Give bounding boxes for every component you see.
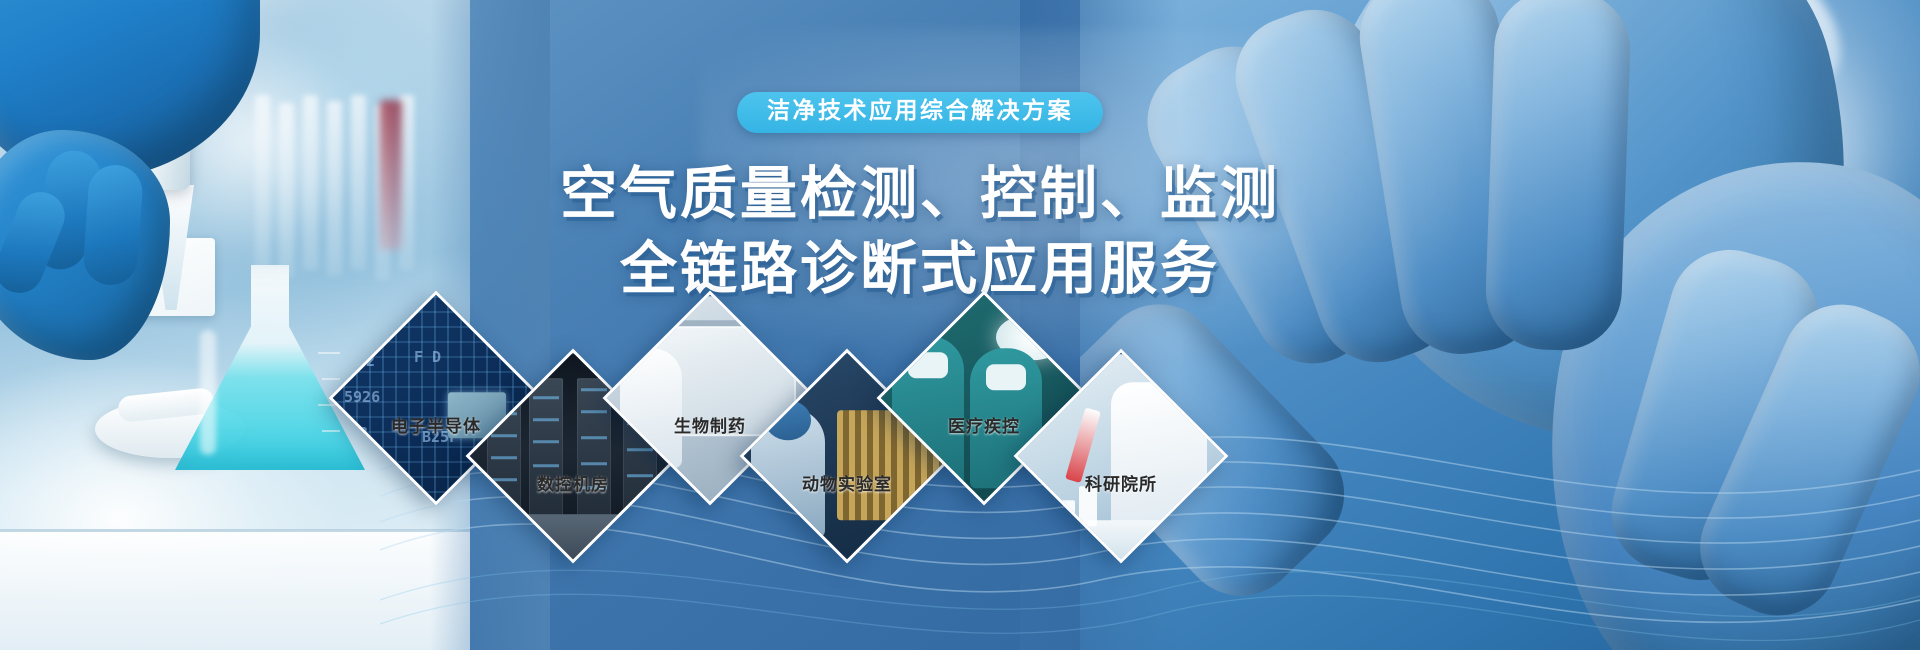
headline-line-2: 全链路诊断式应用服务 [470,232,1370,307]
bench-edge-line [0,529,470,532]
flask-graduation-marks [300,352,340,457]
banner-copy: 洁净技术应用综合解决方案 空气质量检测、控制、监测 全链路诊断式应用服务 [470,92,1370,307]
solution-badge: 洁净技术应用综合解决方案 [737,92,1103,133]
lab-bench-surface [0,530,470,650]
industry-card-label[interactable]: 科研院所 [1026,470,1216,495]
headline: 空气质量检测、控制、监测 全链路诊断式应用服务 [470,157,1370,307]
headline-line-1: 空气质量检测、控制、监测 [470,157,1370,232]
hero-banner: 洁净技术应用综合解决方案 空气质量检测、控制、监测 全链路诊断式应用服务 E22… [0,0,1920,650]
red-sample-tube [380,100,402,250]
industry-card-label[interactable]: 数控机房 [478,470,668,495]
glove-finger [82,163,144,286]
glove-finger [1484,0,1632,352]
lab-pipette-photo [0,0,470,650]
flask-highlight [200,330,216,455]
industry-card-label[interactable]: 动物实验室 [752,470,942,495]
